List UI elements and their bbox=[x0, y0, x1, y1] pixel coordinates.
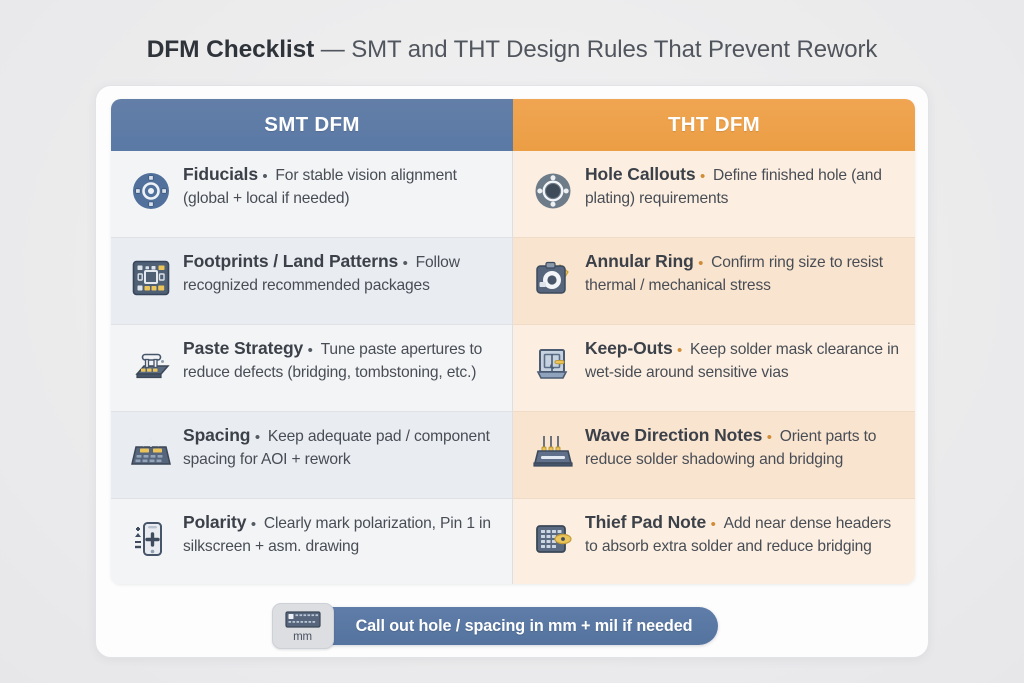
cell-tht-thief-pad[interactable]: Thief Pad Note Add near dense headers to… bbox=[513, 499, 915, 584]
column-header-tht[interactable]: THT DFM bbox=[513, 99, 915, 151]
cell-smt-paste-strategy[interactable]: Paste Strategy Tune paste apertures to r… bbox=[111, 325, 513, 412]
keep-out-area-icon bbox=[529, 341, 577, 389]
annular-ring-icon bbox=[529, 254, 577, 302]
cell-text: Keep-Outs Keep solder mask clearance in … bbox=[585, 337, 901, 384]
table-row: Polarity Clearly mark polarization, Pin … bbox=[111, 499, 915, 584]
table-body: Fiducials For stable vision alignment (g… bbox=[111, 151, 915, 584]
table-row: Fiducials For stable vision alignment (g… bbox=[111, 151, 915, 238]
cell-text: Fiducials For stable vision alignment (g… bbox=[183, 163, 498, 210]
cell-text: Spacing Keep adequate pad / component sp… bbox=[183, 424, 498, 471]
page-title-subtitle: — SMT and THT Design Rules That Prevent … bbox=[314, 36, 877, 63]
footprint-land-pattern-icon bbox=[127, 254, 175, 302]
cell-text: Wave Direction Notes Orient parts to red… bbox=[585, 424, 901, 471]
cell-text: Annular Ring Confirm ring size to resist… bbox=[585, 250, 901, 297]
mm-badge-label: mm bbox=[293, 631, 312, 643]
cell-smt-fiducials[interactable]: Fiducials For stable vision alignment (g… bbox=[111, 151, 513, 238]
units-callout-pill[interactable]: mm Call out hole / spacing in mm + mil i… bbox=[308, 607, 719, 645]
page-title: DFM Checklist — SMT and THT Design Rules… bbox=[0, 36, 1024, 64]
item-title: Hole Callouts bbox=[585, 164, 696, 184]
units-callout-text: Call out hole / spacing in mm + mil if n… bbox=[356, 617, 693, 636]
dfm-table: SMT DFM THT DFM bbox=[111, 99, 915, 584]
item-title: Paste Strategy bbox=[183, 338, 303, 358]
item-title: Keep-Outs bbox=[585, 338, 673, 358]
cell-tht-hole-callouts[interactable]: Hole Callouts Define finished hole (and … bbox=[513, 151, 915, 238]
cell-text: Paste Strategy Tune paste apertures to r… bbox=[183, 337, 498, 384]
item-title: Thief Pad Note bbox=[585, 512, 706, 532]
item-title: Wave Direction Notes bbox=[585, 425, 762, 445]
column-header-smt[interactable]: SMT DFM bbox=[111, 99, 513, 151]
poster-canvas: DFM Checklist — SMT and THT Design Rules… bbox=[0, 0, 1024, 683]
page-title-strong: DFM Checklist bbox=[147, 36, 315, 63]
thief-pad-icon bbox=[529, 515, 577, 563]
item-title: Fiducials bbox=[183, 164, 258, 184]
cell-smt-polarity[interactable]: Polarity Clearly mark polarization, Pin … bbox=[111, 499, 513, 584]
cell-smt-footprints[interactable]: Footprints / Land Patterns Follow recogn… bbox=[111, 238, 513, 325]
wave-solder-icon bbox=[529, 428, 577, 476]
column-header-tht-label: THT DFM bbox=[668, 113, 760, 137]
item-title: Spacing bbox=[183, 425, 250, 445]
cell-text: Hole Callouts Define finished hole (and … bbox=[585, 163, 901, 210]
checklist-card: SMT DFM THT DFM bbox=[95, 85, 929, 658]
table-header-row: SMT DFM THT DFM bbox=[111, 99, 915, 151]
column-header-smt-label: SMT DFM bbox=[264, 113, 359, 137]
cell-smt-spacing[interactable]: Spacing Keep adequate pad / component sp… bbox=[111, 412, 513, 499]
item-title: Polarity bbox=[183, 512, 246, 532]
pad-spacing-icon bbox=[127, 428, 175, 476]
cell-text: Footprints / Land Patterns Follow recogn… bbox=[183, 250, 498, 297]
solder-paste-stencil-icon bbox=[127, 341, 175, 389]
cell-tht-annular-ring[interactable]: Annular Ring Confirm ring size to resist… bbox=[513, 238, 915, 325]
table-row: Footprints / Land Patterns Follow recogn… bbox=[111, 238, 915, 325]
cell-text: Polarity Clearly mark polarization, Pin … bbox=[183, 511, 498, 558]
cell-tht-keep-outs[interactable]: Keep-Outs Keep solder mask clearance in … bbox=[513, 325, 915, 412]
footer-note: mm Call out hole / spacing in mm + mil i… bbox=[96, 594, 929, 658]
table-row: Spacing Keep adequate pad / component sp… bbox=[111, 412, 915, 499]
fiducial-target-icon bbox=[127, 167, 175, 215]
cell-text: Thief Pad Note Add near dense headers to… bbox=[585, 511, 901, 558]
polarity-marker-icon bbox=[127, 515, 175, 563]
item-title: Footprints / Land Patterns bbox=[183, 251, 398, 271]
plated-hole-icon bbox=[529, 167, 577, 215]
cell-tht-wave-direction[interactable]: Wave Direction Notes Orient parts to red… bbox=[513, 412, 915, 499]
mm-units-badge-icon: mm bbox=[272, 603, 334, 649]
item-title: Annular Ring bbox=[585, 251, 694, 271]
table-row: Paste Strategy Tune paste apertures to r… bbox=[111, 325, 915, 412]
